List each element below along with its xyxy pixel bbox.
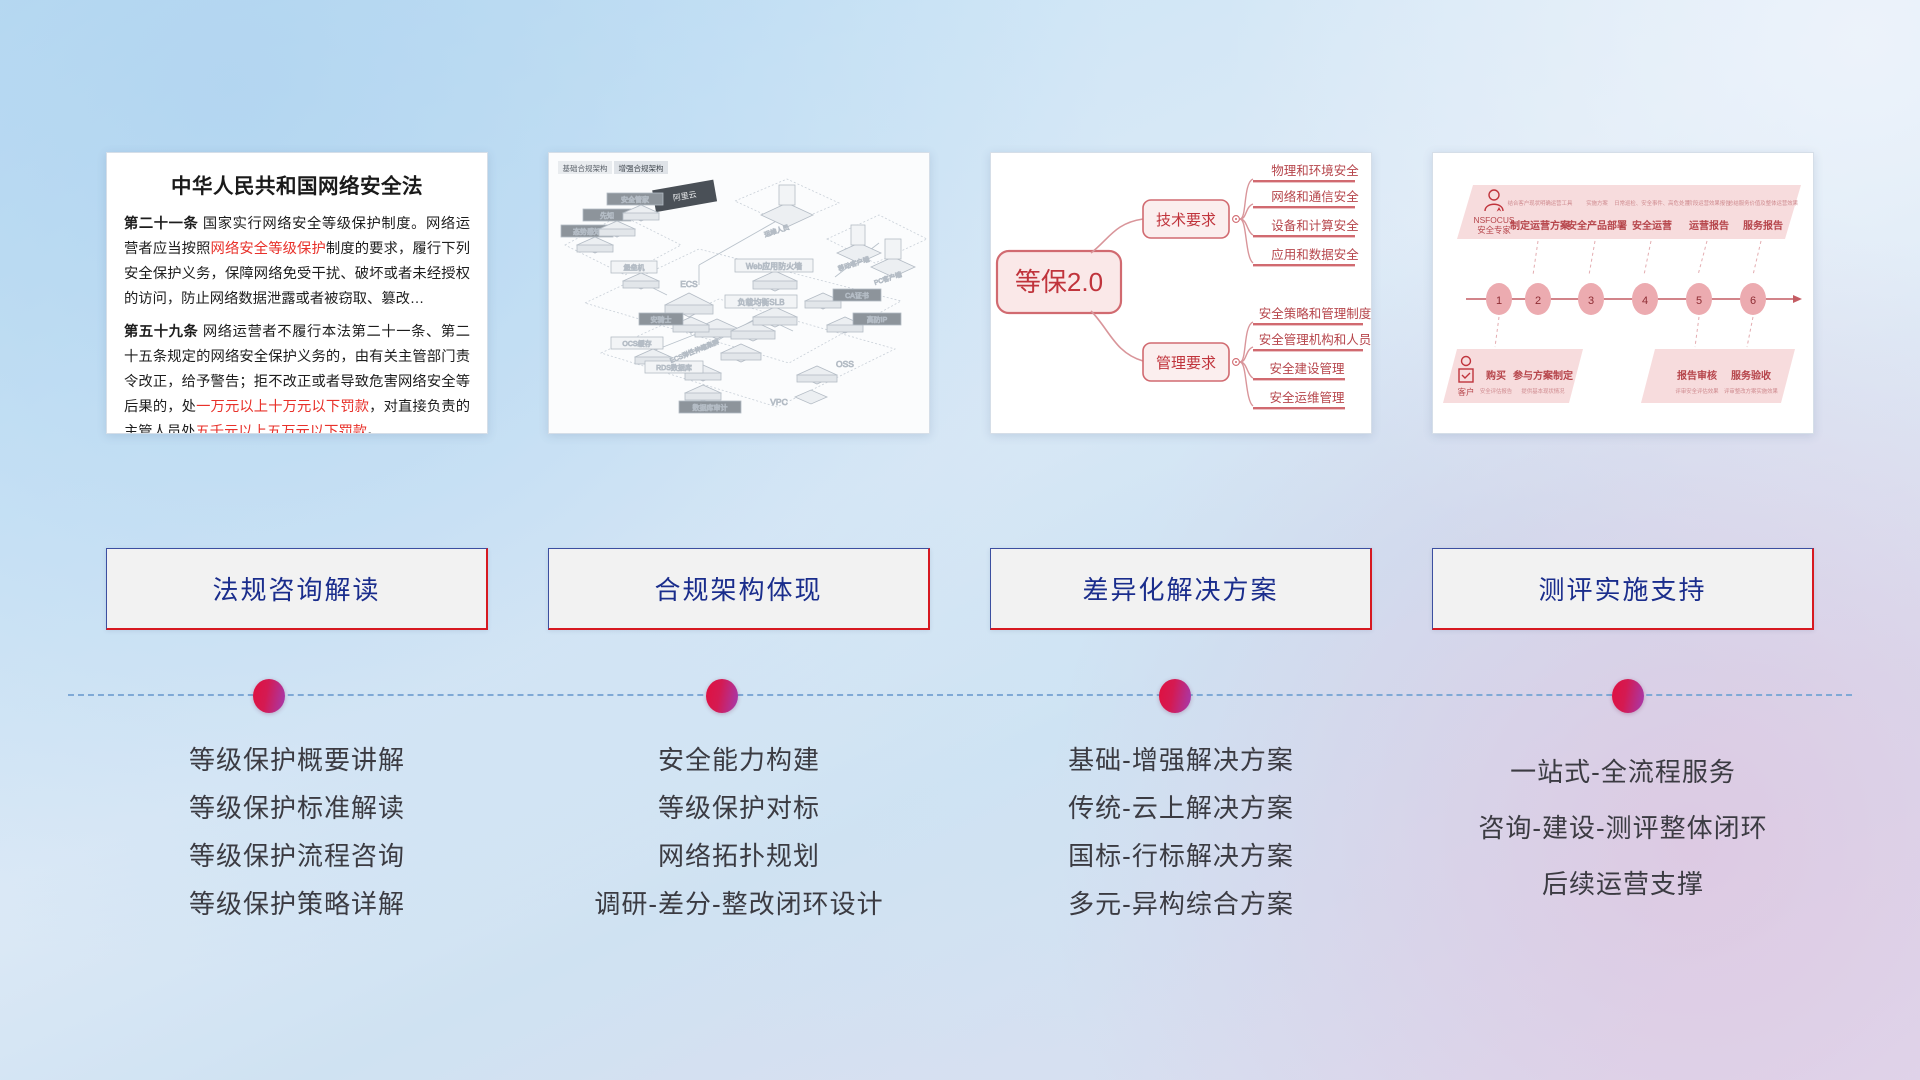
- roadmap-node-4: 4: [1642, 295, 1648, 307]
- roadmap-cust-sub-1: 安全评估报告: [1480, 387, 1513, 395]
- roadmap-step-title-4: 安全运营: [1632, 219, 1672, 232]
- roadmap-step-title-3: 安全产品部署: [1567, 219, 1627, 232]
- roadmap-step-sub-6: 总结服务价值及整体运营效果: [1728, 199, 1799, 207]
- roadmap-cust-sub-2: 提供基本现状情况: [1521, 387, 1565, 395]
- law-title: 中华人民共和国网络安全法: [124, 169, 470, 199]
- mindmap-leaf-mgmt-0: 安全策略和管理制度: [1259, 306, 1372, 321]
- list-item: 等级保护对标: [658, 788, 820, 825]
- list-item: 调研-差分-整改闭环设计: [594, 884, 883, 921]
- roadmap-step-title-5: 运营报告: [1689, 219, 1729, 232]
- list-item: 基础-增强解决方案: [1068, 740, 1294, 777]
- list-item: 后续运营支撑: [1542, 864, 1704, 901]
- roadmap-node-3: 3: [1588, 295, 1594, 307]
- headline-box-assessment-support[interactable]: 测评实施支持: [1432, 548, 1814, 630]
- timeline-dot-3: [1159, 679, 1191, 713]
- headline-label-3: 测评实施支持: [1538, 570, 1706, 607]
- list-item: 国标-行标解决方案: [1068, 836, 1294, 873]
- dengbao-mindmap: 等保2.0 技术要求 物理和环境安全 网络和通信安全 设备和计算: [991, 153, 1372, 434]
- svg-text:OCS缓存: OCS缓存: [622, 339, 651, 348]
- list-item: 等级保护策略详解: [189, 884, 405, 921]
- roadmap-node-6: 6: [1750, 295, 1756, 307]
- roadmap-step-title-6: 服务报告: [1743, 219, 1783, 232]
- roadmap-cust-title-4: 服务验收: [1731, 369, 1771, 382]
- service-list-column-4: 一站式-全流程服务 咨询-建设-测评整体闭环 后续运营支撑: [1432, 740, 1814, 921]
- svg-text:先知: 先知: [600, 211, 614, 220]
- roadmap-customer-role: 客户: [1458, 387, 1475, 397]
- roadmap-cust-sub-3: 评审安全评估效果: [1675, 387, 1719, 395]
- timeline-dot-4: [1612, 679, 1644, 713]
- svg-text:RDS数据库: RDS数据库: [656, 363, 692, 372]
- headline-box-differentiated-solution[interactable]: 差异化解决方案: [990, 548, 1372, 630]
- arch-tab-enhanced: 增强合规架构: [619, 163, 664, 173]
- card-cybersecurity-law: 中华人民共和国网络安全法 第二十一条 国家实行网络安全等级保护制度。网络运营者应…: [106, 152, 488, 434]
- card-nsfocus-roadmap: NSFOCUS 安全专家 制定运营方案 结合客户现状明确运营工具 安全产品部署 …: [1432, 152, 1814, 434]
- roadmap-cust-title-3: 报告审核: [1677, 369, 1717, 382]
- article-59-highlight-2: 五千元以上五万元以下罚款: [195, 424, 367, 434]
- article-59-text-c: 。: [367, 424, 381, 434]
- svg-text:高防IP: 高防IP: [867, 315, 888, 324]
- svg-text:数据库审计: 数据库审计: [693, 403, 728, 412]
- list-item: 等级保护概要讲解: [189, 740, 405, 777]
- mindmap-leaf-mgmt-3: 安全运维管理: [1269, 390, 1345, 405]
- mindmap-branch-mgmt-label: 管理要求: [1156, 355, 1216, 372]
- mindmap-leaf-tech-2: 设备和计算安全: [1271, 218, 1359, 233]
- headline-label-0: 法规咨询解读: [212, 570, 380, 607]
- svg-text:安全管家: 安全管家: [621, 195, 649, 204]
- svg-text:安骑士: 安骑士: [651, 315, 672, 324]
- mindmap-branch-tech-label: 技术要求: [1156, 212, 1216, 229]
- svg-text:负载均衡SLB: 负载均衡SLB: [737, 297, 784, 307]
- service-list-column-3: 基础-增强解决方案 传统-云上解决方案 国标-行标解决方案 多元-异构综合方案: [990, 740, 1372, 921]
- list-item: 咨询-建设-测评整体闭环: [1478, 808, 1767, 845]
- arch-tab-basic: 基础合规架构: [563, 163, 608, 173]
- article-59-label: 第五十九条: [124, 324, 198, 340]
- roadmap-cust-title-1: 购买: [1486, 369, 1506, 382]
- roadmap-step-sub-5: 阶段运营效果报告: [1687, 199, 1731, 207]
- nsfocus-roadmap-diagram: NSFOCUS 安全专家 制定运营方案 结合客户现状明确运营工具 安全产品部署 …: [1433, 153, 1814, 434]
- svg-text:OSS: OSS: [836, 359, 854, 369]
- article-21-label: 第二十一条: [124, 216, 198, 232]
- roadmap-step-sub-3: 实施方案: [1586, 199, 1608, 207]
- headline-boxes-row: 法规咨询解读 合规架构体现 差异化解决方案 测评实施支持: [0, 548, 1920, 630]
- mindmap-root-label: 等保2.0: [1015, 267, 1103, 297]
- service-list-column-1: 等级保护概要讲解 等级保护标准解读 等级保护流程咨询 等级保护策略详解: [106, 740, 488, 921]
- service-lists-row: 等级保护概要讲解 等级保护标准解读 等级保护流程咨询 等级保护策略详解 安全能力…: [0, 740, 1920, 921]
- mindmap-leaf-tech-0: 物理和环境安全: [1271, 163, 1359, 178]
- feature-cards-row: 中华人民共和国网络安全法 第二十一条 国家实行网络安全等级保护制度。网络运营者应…: [0, 152, 1920, 434]
- headline-box-compliance-architecture[interactable]: 合规架构体现: [548, 548, 930, 630]
- mindmap-leaf-mgmt-1: 安全管理机构和人员: [1259, 332, 1372, 347]
- roadmap-cust-sub-4: 评审整改方案实施效果: [1724, 387, 1779, 395]
- svg-text:VPC: VPC: [770, 397, 787, 407]
- card-dengbao-mindmap: 等保2.0 技术要求 物理和环境安全 网络和通信安全 设备和计算: [990, 152, 1372, 434]
- svg-text:Web应用防火墙: Web应用防火墙: [746, 261, 802, 271]
- list-item: 安全能力构建: [658, 740, 820, 777]
- svg-text:ECS: ECS: [680, 279, 698, 289]
- service-list-column-2: 安全能力构建 等级保护对标 网络拓扑规划 调研-差分-整改闭环设计: [548, 740, 930, 921]
- svg-text:态势感知: 态势感知: [573, 227, 601, 236]
- list-item: 网络拓扑规划: [658, 836, 820, 873]
- list-item: 传统-云上解决方案: [1068, 788, 1294, 825]
- roadmap-expert-line1: NSFOCUS: [1474, 215, 1515, 225]
- mindmap-leaf-tech-3: 应用和数据安全: [1271, 247, 1359, 262]
- roadmap-node-2: 2: [1535, 295, 1541, 307]
- svg-text:CA证书: CA证书: [845, 291, 869, 300]
- list-item: 等级保护标准解读: [189, 788, 405, 825]
- article-21-highlight: 网络安全等级保护: [211, 241, 326, 257]
- article-59-highlight-1: 一万元以上十万元以下罚款: [196, 399, 369, 415]
- law-article-21: 第二十一条 国家实行网络安全等级保护制度。网络运营者应当按照网络安全等级保护制度…: [124, 212, 470, 312]
- headline-label-1: 合规架构体现: [654, 570, 822, 607]
- roadmap-expert-line2: 安全专家: [1477, 225, 1511, 235]
- roadmap-node-1: 1: [1496, 295, 1502, 307]
- mindmap-leaf-mgmt-2: 安全建设管理: [1269, 361, 1345, 376]
- law-article-59: 第五十九条 网络运营者不履行本法第二十一条、第二十五条规定的网络安全保护义务的，…: [124, 320, 470, 434]
- roadmap-step-sub-2: 结合客户现状明确运营工具: [1508, 199, 1573, 207]
- card-cloud-architecture: 基础合规架构 增强合规架构 阿里云: [548, 152, 930, 434]
- roadmap-node-5: 5: [1696, 295, 1702, 307]
- timeline-dashed-line: [68, 694, 1852, 696]
- list-item: 多元-异构综合方案: [1068, 884, 1294, 921]
- headline-box-regulation-consulting[interactable]: 法规咨询解读: [106, 548, 488, 630]
- list-item: 一站式-全流程服务: [1510, 752, 1736, 789]
- mindmap-leaf-tech-1: 网络和通信安全: [1271, 189, 1359, 204]
- timeline-dot-1: [253, 679, 285, 713]
- svg-text:堡垒机: 堡垒机: [624, 263, 645, 272]
- timeline-dot-2: [706, 679, 738, 713]
- roadmap-cust-title-2: 参与方案制定: [1513, 369, 1573, 382]
- list-item: 等级保护流程咨询: [189, 836, 405, 873]
- roadmap-step-title-2: 制定运营方案: [1510, 219, 1571, 232]
- cloud-architecture-diagram: 基础合规架构 增强合规架构 阿里云: [549, 153, 930, 434]
- roadmap-step-sub-4: 日常巡检、安全事件、高危处置: [1614, 199, 1690, 207]
- headline-label-2: 差异化解决方案: [1082, 570, 1278, 607]
